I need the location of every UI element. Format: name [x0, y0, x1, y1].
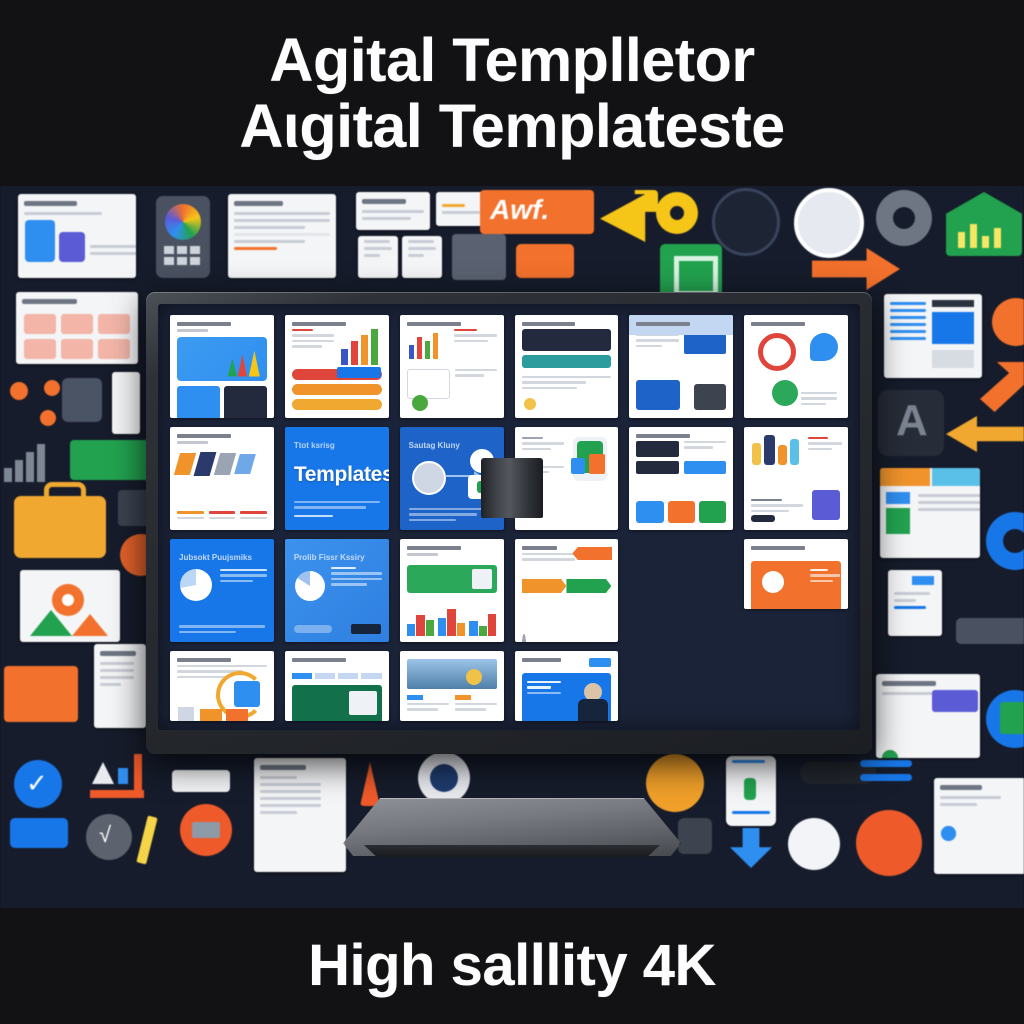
thumbnail-title — [177, 658, 231, 662]
blue-gear-hole-icon — [1003, 529, 1024, 553]
avatar — [412, 461, 446, 495]
collage-document-card — [358, 236, 398, 278]
awf-badge-icon: Awf. — [480, 190, 594, 234]
thumbnail-title: Prolib Fissr Kssiry — [294, 553, 365, 562]
monitor-bezel: Ttot ksrisg Templates Sautag Kluny — [146, 292, 872, 754]
collage-document-card — [254, 758, 346, 872]
page-title-line-2: Aιgital Templateste — [239, 95, 784, 157]
collage-document-card — [356, 192, 430, 230]
collage-document-card — [888, 570, 942, 636]
gear-icon-hole — [670, 206, 684, 220]
blue-file-icon — [986, 690, 1024, 748]
thumbnail-title — [522, 546, 557, 550]
sun-icon — [646, 754, 704, 812]
clipboard-icon — [62, 378, 102, 422]
template-thumbnail[interactable] — [744, 315, 848, 418]
briefcase-icon — [14, 496, 106, 558]
video-camera-icon — [10, 818, 68, 848]
template-thumbnail[interactable] — [170, 427, 274, 530]
collage-document-card — [94, 644, 146, 728]
template-thumbnail[interactable] — [744, 539, 848, 609]
template-thumbnail[interactable] — [400, 315, 504, 418]
collage-mobile-card — [726, 756, 776, 826]
featured-kicker: Ttot ksrisg — [294, 441, 335, 450]
footer-caption: High salllity 4K — [308, 936, 716, 995]
menu-lines-icon — [860, 774, 912, 781]
collage-document-card — [112, 372, 140, 434]
math-circle-icon: √ — [86, 814, 132, 860]
thumbnail-title: Jubsokt Puujsmiks — [179, 553, 252, 562]
collage-table-card — [880, 468, 980, 558]
wrench-icon — [956, 618, 1024, 644]
header-band: Agital Templletor Aιgital Templateste — [0, 0, 1024, 186]
clock-light-icon — [794, 188, 864, 258]
arrow-down-left-icon — [600, 190, 658, 242]
download-icon — [730, 828, 772, 868]
thumbnail-title — [407, 546, 461, 550]
collage-document-card — [402, 236, 442, 278]
thumbnail-title — [407, 322, 461, 326]
desktop-monitor: Ttot ksrisg Templates Sautag Kluny — [146, 292, 872, 762]
bar-chart-icon — [4, 440, 58, 482]
template-thumbnail[interactable] — [285, 651, 389, 721]
node-graph-icon — [10, 380, 68, 430]
template-thumbnail[interactable]: Jubsokt Puujsmiks — [170, 539, 274, 642]
clock-dark-icon — [712, 188, 780, 256]
briefcase-handle-icon — [44, 482, 86, 505]
featured-headline: Templates — [294, 463, 389, 487]
template-thumbnail[interactable] — [515, 539, 619, 642]
check-circle-icon: ✓ — [14, 760, 62, 808]
orange-stop-icon — [180, 804, 232, 856]
template-thumbnail[interactable] — [515, 651, 619, 721]
node-arrow-icon — [90, 754, 150, 810]
folder-icon — [4, 666, 78, 722]
arrow-left-icon — [946, 416, 1024, 452]
collage-document-card — [228, 194, 336, 278]
template-gallery-grid[interactable]: Ttot ksrisg Templates Sautag Kluny — [170, 315, 848, 721]
thumbnail-title — [751, 322, 805, 326]
collage-document-card — [16, 292, 138, 364]
thumbnail-title — [292, 658, 346, 662]
monitor-stand-base-edge — [351, 845, 673, 857]
thumbnail-title — [292, 322, 346, 326]
collage-map-card — [20, 570, 120, 642]
thumbnail-title — [751, 546, 805, 550]
collage-layout-card — [884, 294, 982, 378]
collage-status-card — [876, 674, 980, 758]
template-thumbnail[interactable] — [400, 539, 504, 642]
thumbnail-title — [522, 658, 561, 662]
thumbnail-title: Sautag Kluny — [409, 441, 460, 450]
browser-inner-icon — [430, 764, 458, 792]
house-chart-icon — [946, 192, 1022, 256]
battery-icon — [172, 770, 230, 792]
hero-illustration — [177, 337, 267, 381]
thumbnail-title — [177, 434, 231, 438]
speedometer-icon — [788, 818, 840, 870]
pie-chart — [180, 569, 212, 601]
thumbnail-title — [636, 434, 690, 438]
gauge-icon-hole — [893, 207, 915, 229]
collage-document-card — [18, 194, 136, 278]
calculator-icon — [156, 196, 210, 278]
template-thumbnail[interactable] — [400, 651, 504, 721]
monitor-stand-neck — [481, 458, 543, 518]
poster-canvas: Awf. — [0, 0, 1024, 1024]
footer-band: High salllity 4K — [0, 908, 1024, 1024]
pencil-icon — [136, 816, 157, 865]
template-thumbnail[interactable] — [515, 315, 619, 418]
cone-icon — [360, 762, 380, 806]
template-thumbnail[interactable] — [170, 315, 274, 418]
page-title-line-1: Agital Templletor — [269, 29, 754, 91]
cross-circle-icon — [992, 298, 1024, 346]
template-thumbnail[interactable] — [629, 315, 733, 418]
letter-a-icon: A — [878, 390, 944, 456]
template-thumbnail[interactable]: Prolib Fissr Kssiry — [285, 539, 389, 642]
template-thumbnail[interactable] — [170, 651, 274, 721]
template-thumbnail[interactable] — [744, 427, 848, 530]
thumbnail-title — [636, 322, 690, 326]
android-icon — [678, 818, 712, 854]
template-thumbnail[interactable] — [629, 427, 733, 530]
thumbnail-title — [522, 322, 576, 326]
pie-chart — [295, 571, 325, 601]
office-building-icon — [452, 234, 506, 280]
template-thumbnail[interactable] — [285, 315, 389, 418]
thumbnail-title — [177, 322, 231, 326]
template-thumbnail-featured[interactable]: Ttot ksrisg Templates — [285, 427, 389, 530]
orange-dot-icon — [856, 810, 922, 876]
orange-tag-icon — [516, 244, 574, 278]
collage-dashboard-card — [934, 778, 1024, 874]
arrow-up-right-icon — [980, 362, 1024, 412]
